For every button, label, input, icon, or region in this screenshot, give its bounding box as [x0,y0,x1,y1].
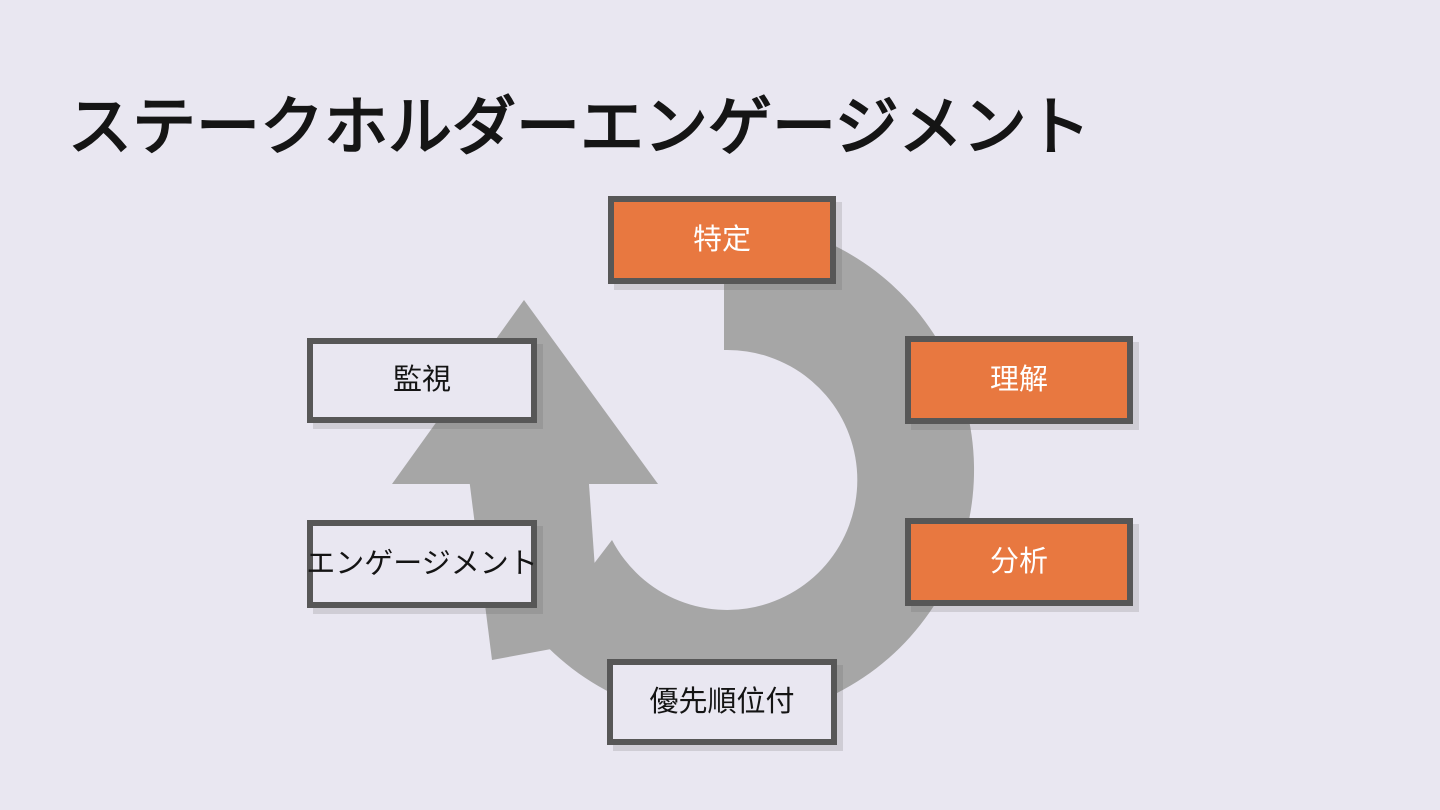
cycle-node-yusenjuni[interactable]: 優先順位付 [607,659,837,745]
cycle-node-label: 監視 [393,366,451,395]
slide-canvas: ステークホルダーエンゲージメント 特定 理解 分析 優先順位付 エンゲージメント… [0,0,1440,810]
cycle-node-label: 理解 [990,366,1048,395]
cycle-node-label: 分析 [990,548,1048,577]
cycle-node-tokutei[interactable]: 特定 [608,196,836,284]
cycle-node-label: エンゲージメント [306,550,537,579]
cycle-node-kanshi[interactable]: 監視 [307,338,537,423]
cycle-node-engagement[interactable]: エンゲージメント [307,520,537,608]
cycle-node-rikai[interactable]: 理解 [905,336,1133,424]
cycle-node-label: 優先順位付 [649,688,794,717]
cycle-node-bunseki[interactable]: 分析 [905,518,1133,606]
cycle-node-label: 特定 [693,226,751,255]
